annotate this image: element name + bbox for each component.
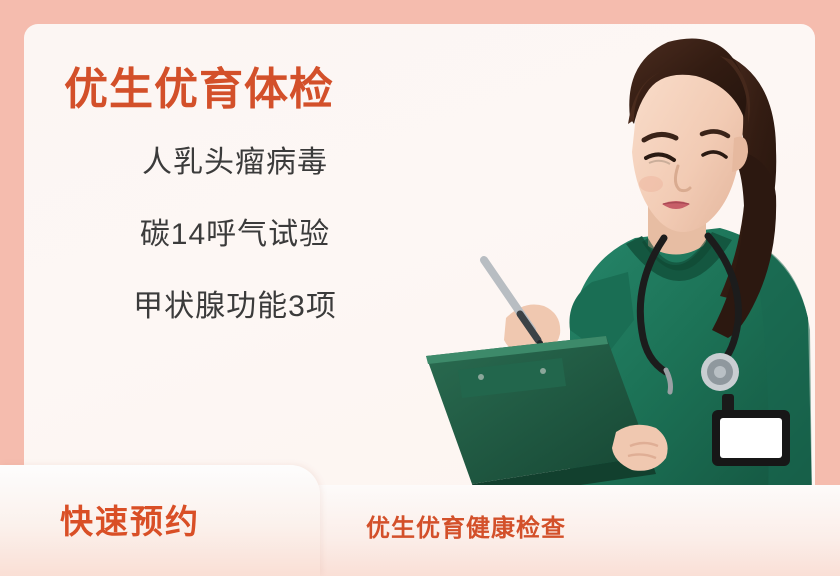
list-item: 甲状腺功能3项 xyxy=(64,292,406,322)
footer-caption: 优生优育健康检查 xyxy=(366,508,566,543)
promo-text-block: 优生优育体检 人乳头瘤病毒 碳14呼气试验 甲状腺功能3项 xyxy=(64,66,424,322)
page-title: 优生优育体检 xyxy=(64,66,424,114)
service-list: 人乳头瘤病毒 碳14呼气试验 甲状腺功能3项 xyxy=(64,148,424,322)
list-item: 人乳头瘤病毒 xyxy=(64,148,406,178)
promo-card: 优生优育体检 人乳头瘤病毒 碳14呼气试验 甲状腺功能3项 快速预约 优生优育健… xyxy=(0,0,840,576)
quick-booking-button-label[interactable]: 快速预约 xyxy=(60,495,200,543)
list-item: 碳14呼气试验 xyxy=(64,220,406,250)
